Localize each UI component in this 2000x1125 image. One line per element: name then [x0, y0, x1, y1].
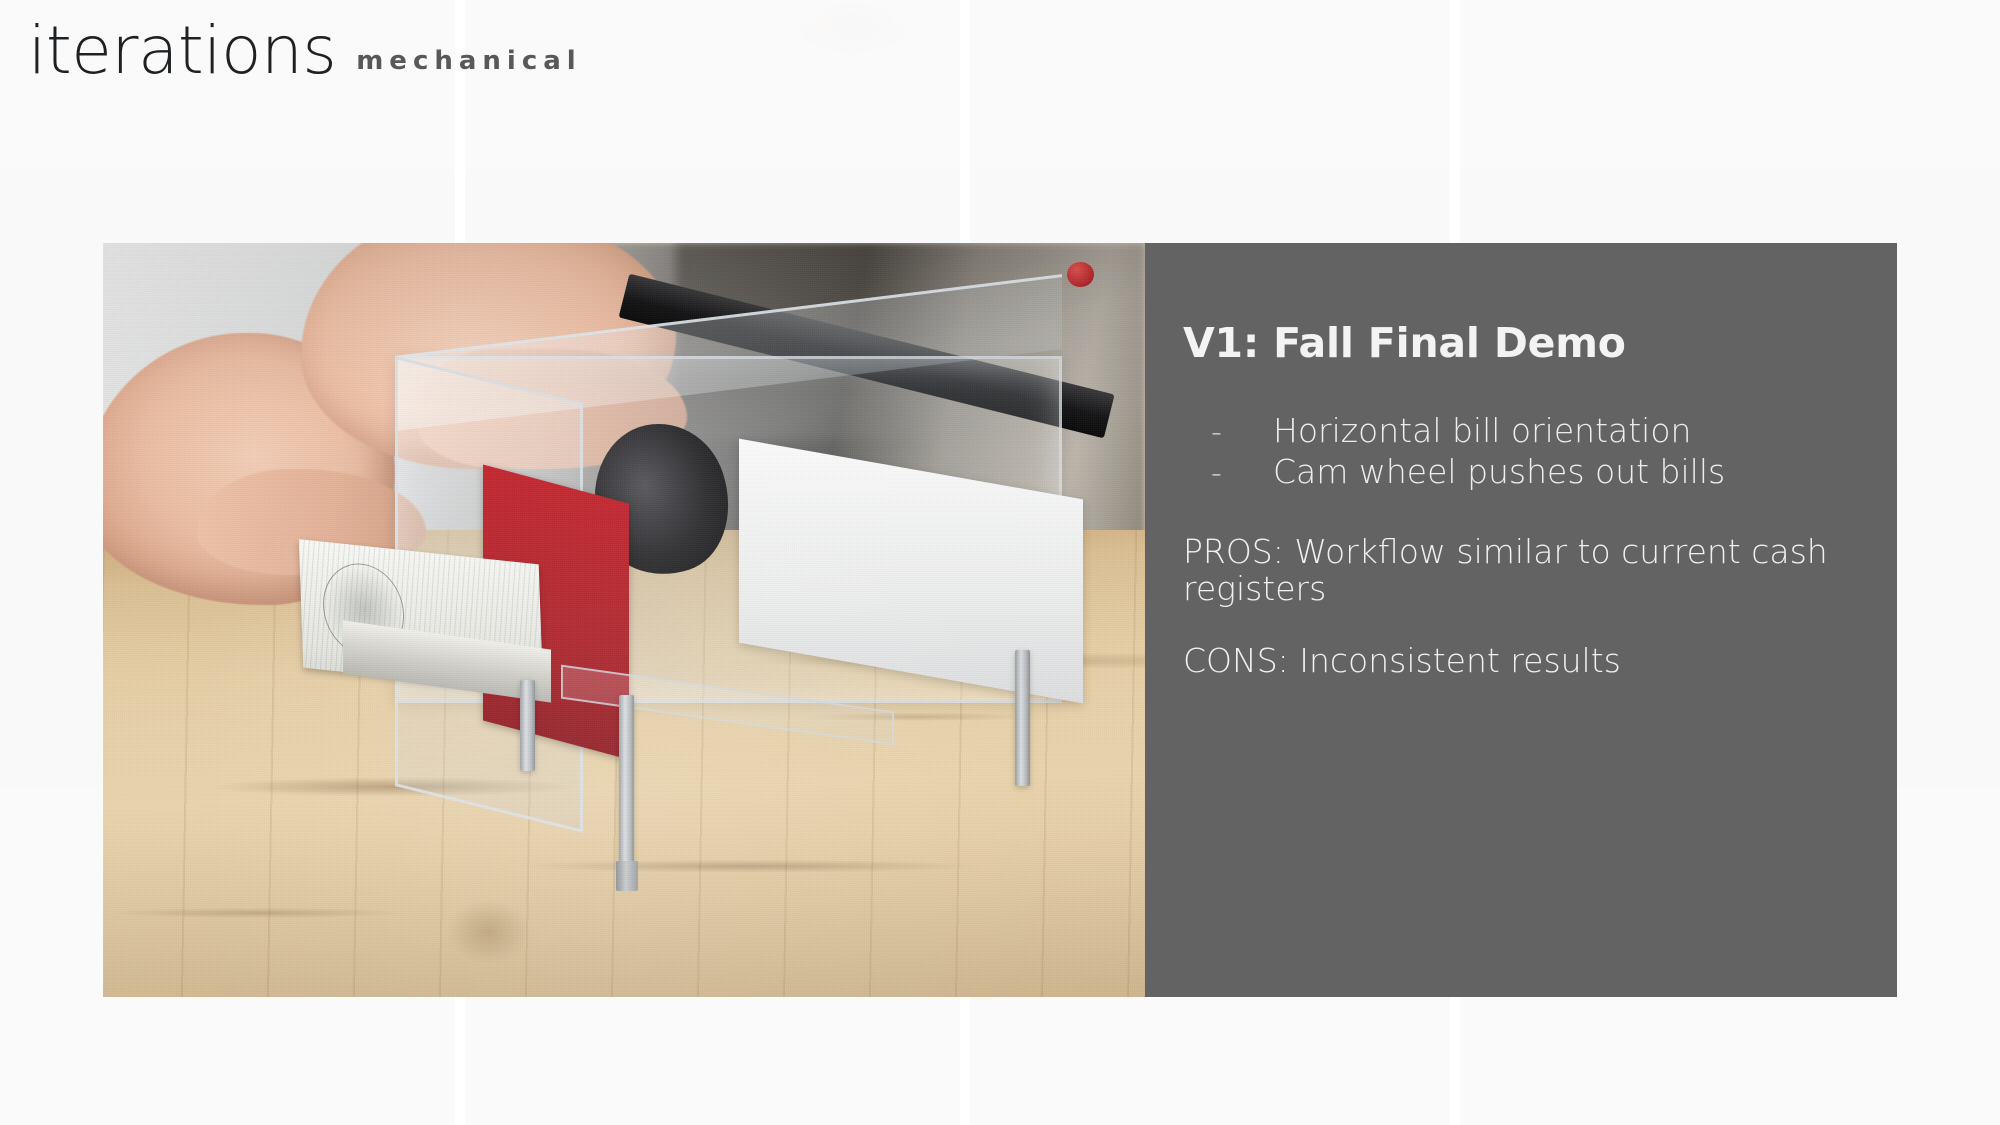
page-subtitle: mechanical	[356, 48, 581, 74]
list-item: - Horizontal bill orientation	[1211, 413, 1725, 449]
description-panel: V1: Fall Final Demo - Horizontal bill or…	[1145, 243, 1897, 997]
list-item-label: Horizontal bill orientation	[1273, 413, 1691, 449]
panel-title: V1: Fall Final Demo	[1183, 321, 1626, 366]
content-band: Hands operating a clear acrylic cash-dis…	[103, 243, 1897, 997]
prototype-demo-photo: Hands operating a clear acrylic cash-dis…	[103, 243, 1145, 997]
photo-standoff-leg-right	[1015, 650, 1031, 786]
bullet-dash-icon: -	[1211, 416, 1273, 449]
slide-header: iterations mechanical	[28, 18, 582, 84]
pros-text: PROS: Workflow similar to current cash r…	[1183, 534, 1833, 608]
photo-standoff-leg-front-center	[619, 695, 635, 884]
cons-text: CONS: Inconsistent results	[1183, 643, 1833, 680]
bg-tile-paper-stack	[970, 0, 1450, 235]
feature-bullet-list: - Horizontal bill orientation - Cam whee…	[1211, 413, 1725, 496]
bullet-dash-icon: -	[1211, 457, 1273, 490]
photo-standoff-leg-foot	[616, 861, 638, 891]
page-title: iterations	[28, 18, 336, 84]
bg-tile-dollar-bills	[1460, 0, 2000, 240]
list-item-label: Cam wheel pushes out bills	[1273, 454, 1725, 490]
photo-standoff-leg-front-left	[520, 680, 536, 770]
list-item: - Cam wheel pushes out bills	[1211, 454, 1725, 490]
slide-canvas: iterations mechanical	[0, 0, 2000, 1125]
